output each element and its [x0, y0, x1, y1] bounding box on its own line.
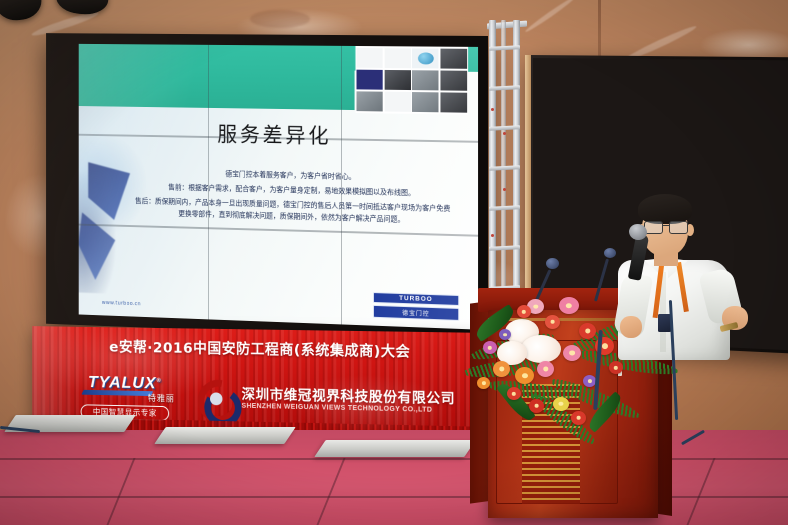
stage-base-block: [154, 427, 295, 444]
weiguan-mark-icon: [198, 379, 234, 417]
tyalux-wordmark: TYALUX®: [69, 373, 180, 392]
registered-mark-icon: ®: [156, 377, 161, 383]
banner-headline: e安帮·2016中国安防工程商(系统集成商)大会: [32, 335, 492, 363]
conference-stage-photo: 服务差异化 德宝门控本着服务客户，为客户省时省心。 售前：根据客户需求，配合客户…: [0, 0, 788, 525]
turboo-logo-en: TURBOO: [373, 292, 459, 306]
globe-icon: [412, 48, 439, 69]
presenter-hair: [638, 194, 692, 224]
video-wall[interactable]: 服务差异化 德宝门控本着服务客户，为客户省时省心。 售前：根据客户需求，配合客户…: [46, 33, 488, 341]
slide-photo-collage: [355, 46, 468, 115]
presenter-left-hand: [620, 316, 642, 338]
presenter: [596, 188, 776, 363]
tyalux-logo: TYALUX® 特雅丽 中国智慧显示专家: [69, 373, 180, 421]
slide-website-url: www.turboo.cn: [102, 300, 141, 307]
presentation-slide: 服务差异化 德宝门控本着服务客户，为客户省时省心。 售前：根据客户需求，配合客户…: [79, 44, 478, 330]
turboo-logo-cn: 德宝门控: [373, 304, 459, 320]
video-wall-screen: 服务差异化 德宝门控本着服务客户，为客户省时省心。 售前：根据客户需求，配合客户…: [79, 44, 478, 330]
slide-body-text: 德宝门控本着服务客户，为客户省时省心。 售前：根据客户需求，配合客户，为客户量身…: [133, 167, 454, 230]
slide-accent-band: [79, 44, 355, 110]
weiguan-logo: 深圳市维冠视界科技股份有限公司 SHENZHEN WEIGUAN VIEWS T…: [198, 379, 456, 422]
eyeglasses-icon: [669, 221, 688, 234]
slide-brand-logo: TURBOO 德宝门控: [373, 292, 459, 320]
tyalux-name-cn: 特雅丽: [69, 390, 180, 404]
stage-base-block: [314, 440, 475, 457]
